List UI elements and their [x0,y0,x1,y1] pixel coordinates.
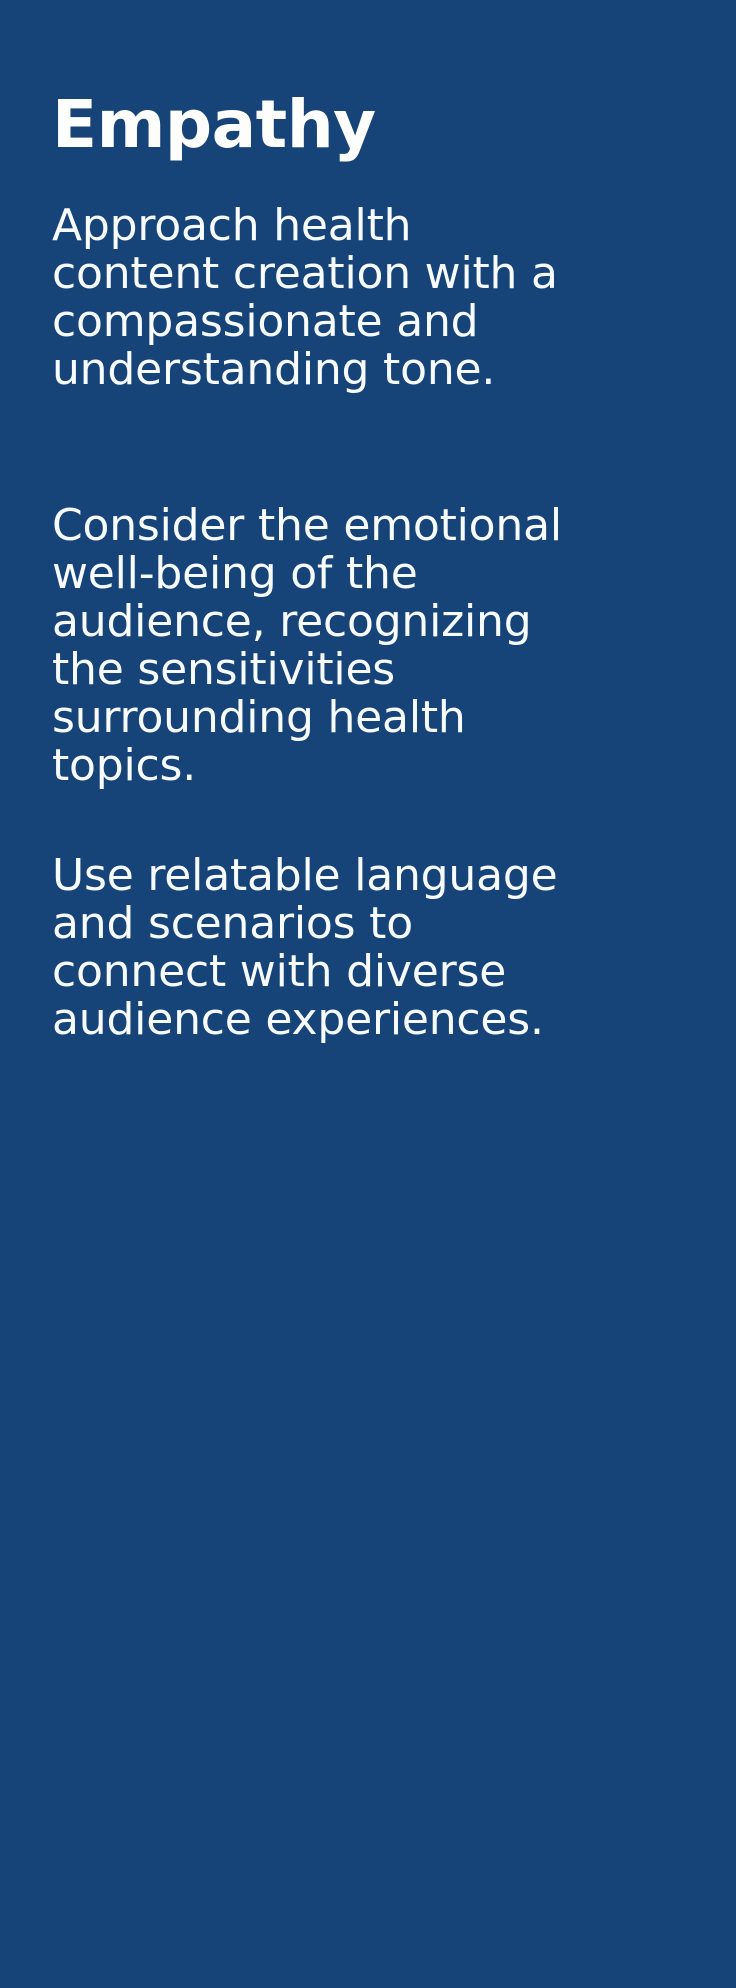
body-paragraph-2-block: Consider the emotional well-being of the… [52,502,582,790]
page-title: Empathy [52,92,376,158]
body-paragraph-3: Use relatable language and scenarios to … [52,852,582,1044]
slide-canvas: Empathy Approach health content creation… [0,0,736,1988]
body-paragraph-1-block: Approach health content creation with a … [52,202,582,394]
body-paragraph-3-block: Use relatable language and scenarios to … [52,852,582,1044]
body-paragraph-1: Approach health content creation with a … [52,202,582,394]
body-paragraph-2: Consider the emotional well-being of the… [52,502,582,790]
